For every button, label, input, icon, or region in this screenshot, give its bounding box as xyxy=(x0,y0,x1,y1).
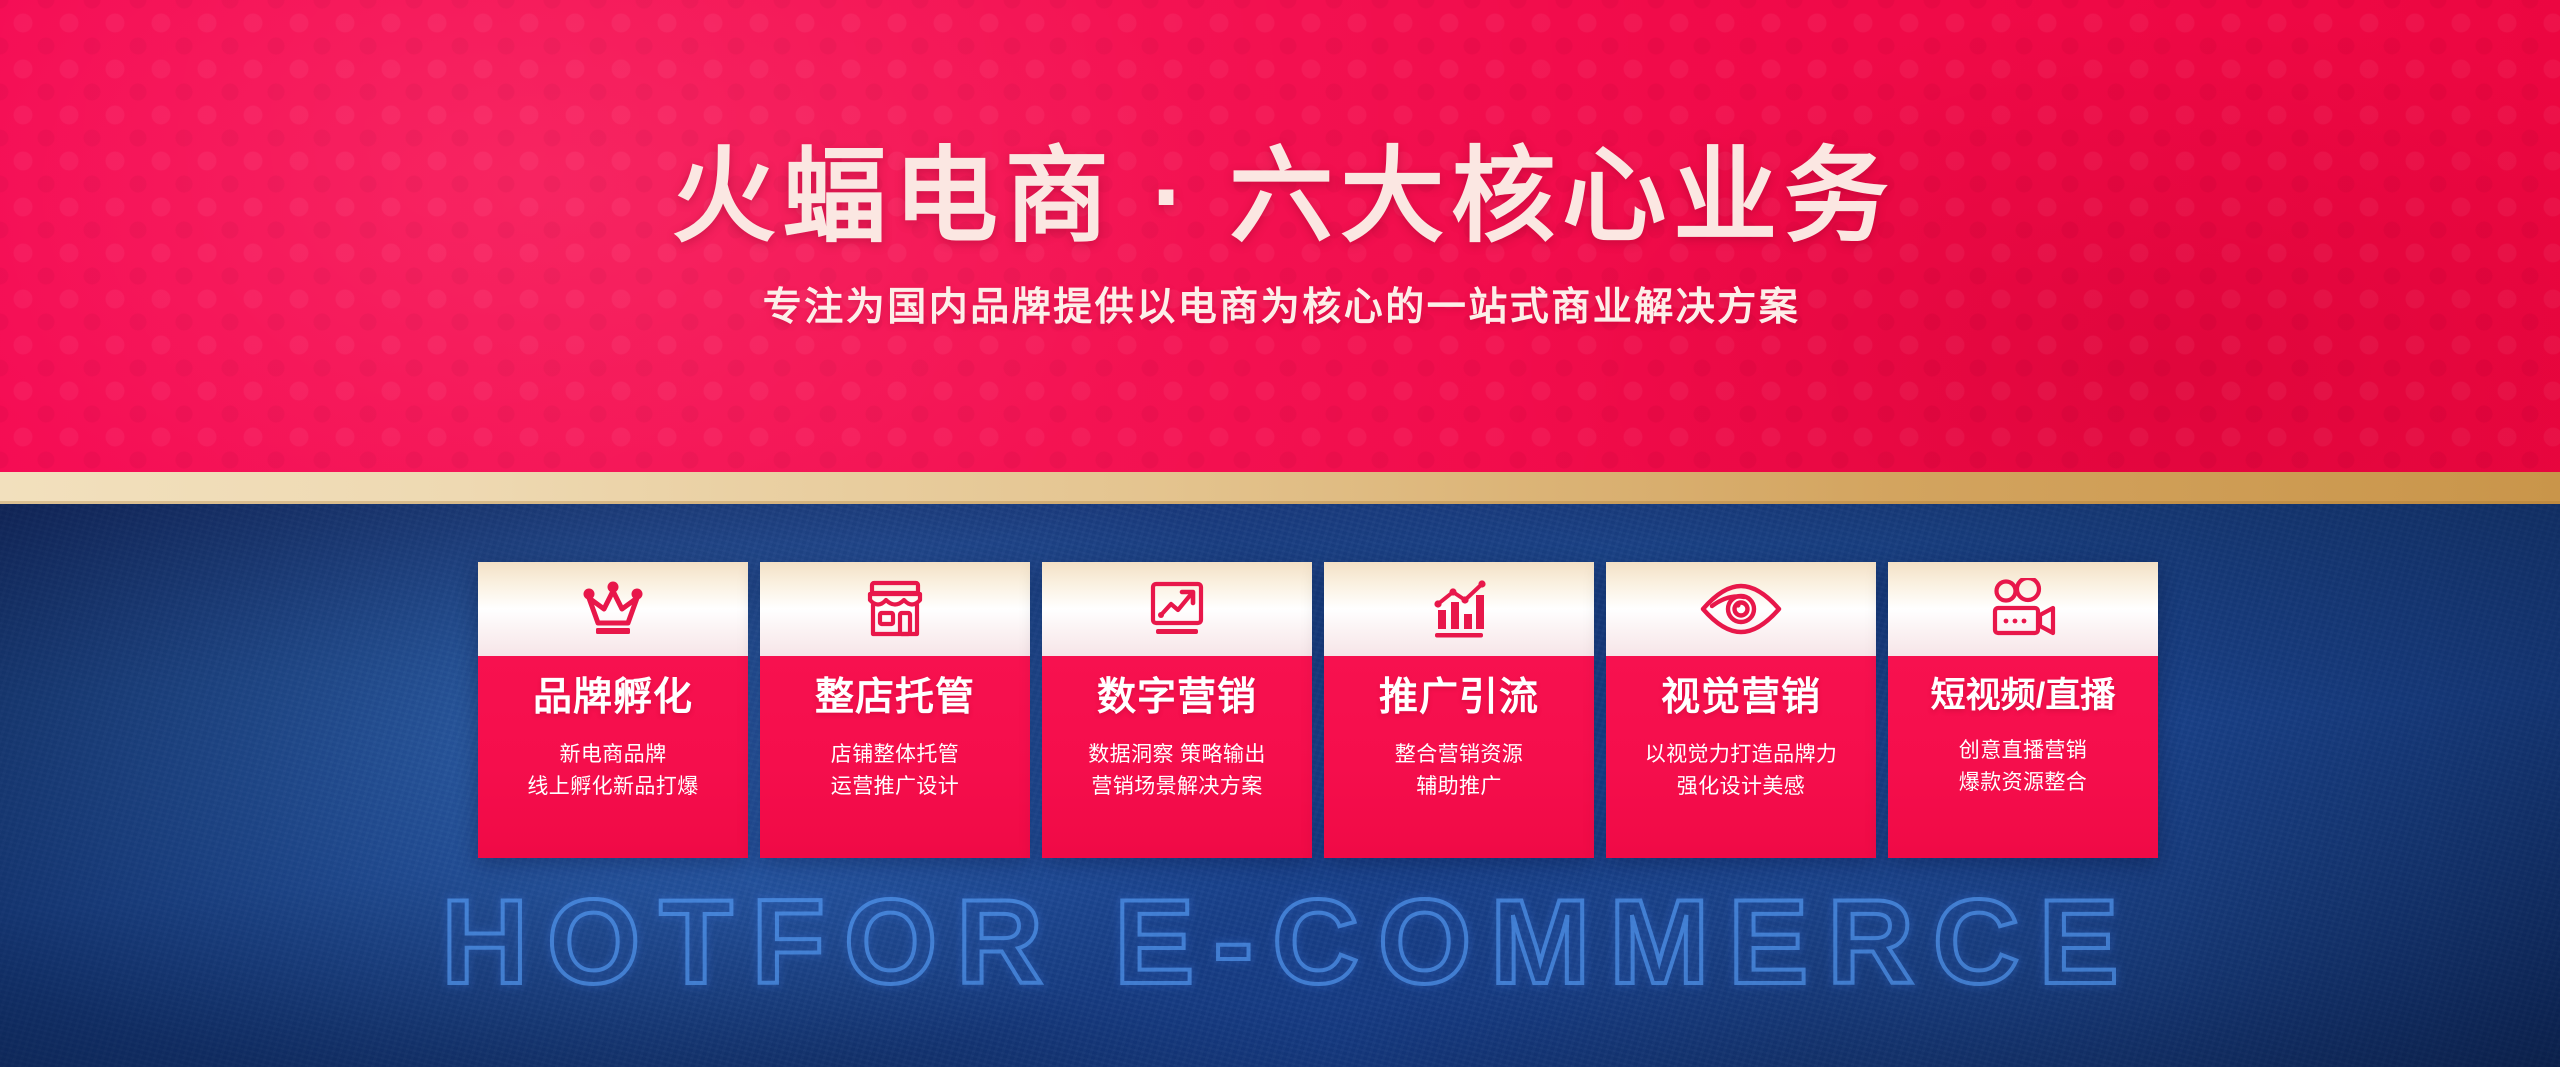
card-title: 推广引流 xyxy=(1379,678,1539,719)
card-description-line-2: 爆款资源整合 xyxy=(1959,767,2087,800)
card-description: 新电商品牌 线上孵化新品打爆 xyxy=(527,739,698,804)
card-title: 短视频/直播 xyxy=(1931,678,2116,715)
service-card-row: 品牌孵化 新电商品牌 线上孵化新品打爆 xyxy=(478,562,2158,858)
services-section: HOTFOR E-COMMERCE HOTFOR E-COMMERCE xyxy=(0,504,2560,1067)
bar-chart-line-icon xyxy=(1427,578,1491,640)
card-icon-area xyxy=(760,562,1030,656)
service-card-brand-incubation[interactable]: 品牌孵化 新电商品牌 线上孵化新品打爆 xyxy=(478,562,748,858)
video-camera-icon xyxy=(1986,578,2060,640)
crown-icon xyxy=(578,578,648,640)
card-description-line-2: 辅助推广 xyxy=(1395,771,1523,804)
banner-content: 火蝠电商 · 六大核心业务 专注为国内品牌提供以电商为核心的一站式商业解决方案 xyxy=(0,0,2560,472)
card-description-line-2: 营销场景解决方案 xyxy=(1088,771,1265,804)
card-text-area: 数字营销 数据洞察 策略输出 营销场景解决方案 xyxy=(1042,656,1312,858)
card-text-area: 推广引流 整合营销资源 辅助推广 xyxy=(1324,656,1594,858)
card-icon-area xyxy=(1042,562,1312,656)
card-description-line-1: 数据洞察 策略输出 xyxy=(1088,739,1265,772)
card-title: 数字营销 xyxy=(1097,678,1257,719)
card-description: 数据洞察 策略输出 营销场景解决方案 xyxy=(1088,739,1265,804)
card-description: 创意直播营销 爆款资源整合 xyxy=(1959,735,2087,800)
card-text-area: 视觉营销 以视觉力打造品牌力 强化设计美感 xyxy=(1606,656,1876,858)
watermark-text: HOTFOR E-COMMERCE xyxy=(0,882,2560,1002)
card-description-line-1: 店铺整体托管 xyxy=(831,739,959,772)
card-description-line-2: 强化设计美感 xyxy=(1645,771,1838,804)
card-text-area: 短视频/直播 创意直播营销 爆款资源整合 xyxy=(1888,656,2158,858)
card-description-line-2: 运营推广设计 xyxy=(831,771,959,804)
trend-chart-icon xyxy=(1144,578,1210,640)
card-description: 店铺整体托管 运营推广设计 xyxy=(831,739,959,804)
card-text-area: 整店托管 店铺整体托管 运营推广设计 xyxy=(760,656,1030,858)
card-icon-area xyxy=(1888,562,2158,656)
promo-banner-page: 火蝠电商 · 六大核心业务 专注为国内品牌提供以电商为核心的一站式商业解决方案 … xyxy=(0,0,2560,1067)
card-description-line-1: 以视觉力打造品牌力 xyxy=(1645,739,1838,772)
service-card-visual-marketing[interactable]: 视觉营销 以视觉力打造品牌力 强化设计美感 xyxy=(1606,562,1876,858)
card-title: 整店托管 xyxy=(815,678,975,719)
card-icon-area xyxy=(478,562,748,656)
card-description: 以视觉力打造品牌力 强化设计美感 xyxy=(1645,739,1838,804)
service-card-digital-marketing[interactable]: 数字营销 数据洞察 策略输出 营销场景解决方案 xyxy=(1042,562,1312,858)
page-subtitle: 专注为国内品牌提供以电商为核心的一站式商业解决方案 xyxy=(760,285,1801,332)
card-icon-area xyxy=(1324,562,1594,656)
card-description-line-1: 整合营销资源 xyxy=(1395,739,1523,772)
eye-icon xyxy=(1698,581,1784,637)
card-description: 整合营销资源 辅助推广 xyxy=(1395,739,1523,804)
card-description-line-2: 线上孵化新品打爆 xyxy=(527,771,698,804)
page-title: 火蝠电商 · 六大核心业务 xyxy=(665,140,1895,254)
card-title: 视觉营销 xyxy=(1661,678,1821,719)
service-card-store-management[interactable]: 整店托管 店铺整体托管 运营推广设计 xyxy=(760,562,1030,858)
service-card-traffic-promotion[interactable]: 推广引流 整合营销资源 辅助推广 xyxy=(1324,562,1594,858)
storefront-icon xyxy=(862,578,928,640)
gold-divider xyxy=(0,472,2560,504)
card-title: 品牌孵化 xyxy=(533,678,693,719)
card-description-line-1: 新电商品牌 xyxy=(527,739,698,772)
card-description-line-1: 创意直播营销 xyxy=(1959,735,2087,768)
hero-banner: 火蝠电商 · 六大核心业务 专注为国内品牌提供以电商为核心的一站式商业解决方案 xyxy=(0,0,2560,472)
service-card-short-video-live[interactable]: 短视频/直播 创意直播营销 爆款资源整合 xyxy=(1888,562,2158,858)
card-icon-area xyxy=(1606,562,1876,656)
card-text-area: 品牌孵化 新电商品牌 线上孵化新品打爆 xyxy=(478,656,748,858)
